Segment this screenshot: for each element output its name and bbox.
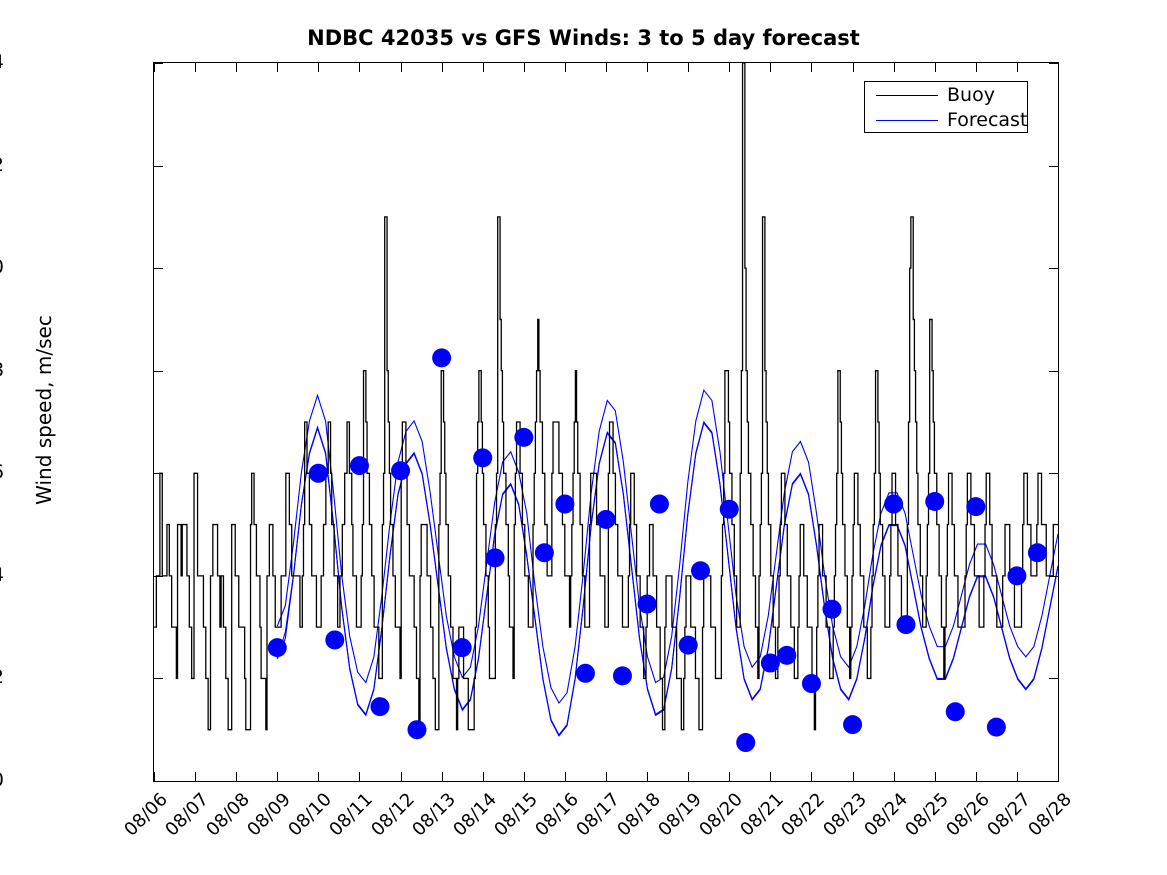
x-tick-mark bbox=[894, 772, 895, 781]
y-axis-label: Wind speed, m/sec bbox=[32, 130, 56, 690]
marker-point bbox=[966, 497, 985, 516]
x-tick-mark bbox=[359, 63, 360, 72]
x-tick-mark bbox=[236, 772, 237, 781]
legend-label-forecast: Forecast bbox=[947, 107, 1027, 133]
x-tick-mark bbox=[647, 772, 648, 781]
marker-point bbox=[691, 561, 710, 580]
y-tick-mark bbox=[154, 576, 163, 577]
y-tick-mark bbox=[154, 268, 163, 269]
x-tick-mark bbox=[1058, 63, 1059, 72]
x-tick-mark bbox=[811, 772, 812, 781]
x-tick-mark bbox=[729, 772, 730, 781]
x-tick-mark bbox=[976, 772, 977, 781]
x-tick-mark bbox=[483, 772, 484, 781]
legend-item-buoy: Buoy bbox=[865, 82, 1029, 108]
x-tick-mark bbox=[195, 63, 196, 72]
y-tick-mark bbox=[154, 781, 163, 782]
marker-point bbox=[650, 495, 669, 514]
x-tick-mark bbox=[1058, 772, 1059, 781]
x-tick-mark bbox=[729, 63, 730, 72]
marker-point bbox=[777, 646, 796, 665]
marker-point bbox=[987, 718, 1006, 737]
marker-point bbox=[350, 456, 369, 475]
marker-point bbox=[309, 464, 328, 483]
x-tick-mark bbox=[524, 63, 525, 72]
marker-point bbox=[823, 600, 842, 619]
x-tick-mark bbox=[853, 772, 854, 781]
x-tick-mark bbox=[565, 772, 566, 781]
marker-point bbox=[720, 500, 739, 519]
marker-point bbox=[597, 510, 616, 529]
x-tick-mark bbox=[401, 772, 402, 781]
y-tick-label: 4 bbox=[0, 564, 4, 586]
y-tick-mark bbox=[154, 473, 163, 474]
y-tick-mark bbox=[154, 371, 163, 372]
y-tick-label: 14 bbox=[0, 51, 4, 73]
y-tick-label: 6 bbox=[0, 461, 4, 483]
y-tick-mark bbox=[154, 166, 163, 167]
y-tick-mark bbox=[1049, 473, 1058, 474]
legend-item-forecast: Forecast bbox=[865, 107, 1029, 133]
y-tick-mark bbox=[1049, 371, 1058, 372]
x-tick-mark bbox=[318, 63, 319, 72]
marker-point bbox=[884, 495, 903, 514]
marker-point bbox=[896, 615, 915, 634]
x-tick-mark bbox=[442, 63, 443, 72]
forecast-series-lines bbox=[277, 390, 1058, 736]
y-tick-mark bbox=[1049, 576, 1058, 577]
x-tick-mark bbox=[770, 772, 771, 781]
marker-point bbox=[679, 636, 698, 655]
marker-point bbox=[736, 733, 755, 752]
marker-point bbox=[638, 595, 657, 614]
x-tick-mark bbox=[770, 63, 771, 72]
marker-point bbox=[432, 348, 451, 367]
marker-point bbox=[473, 448, 492, 467]
x-tick-mark bbox=[606, 772, 607, 781]
x-tick-mark bbox=[483, 63, 484, 72]
chart-figure: NDBC 42035 vs GFS Winds: 3 to 5 day fore… bbox=[0, 0, 1167, 875]
legend-label-buoy: Buoy bbox=[947, 82, 995, 108]
y-tick-mark bbox=[1049, 268, 1058, 269]
x-tick-mark bbox=[401, 63, 402, 72]
forecast-line-5-day bbox=[277, 390, 1058, 703]
x-tick-mark bbox=[442, 772, 443, 781]
y-tick-mark bbox=[154, 63, 163, 64]
y-tick-label: 10 bbox=[0, 256, 4, 278]
x-tick-mark bbox=[853, 63, 854, 72]
y-tick-mark bbox=[1049, 678, 1058, 679]
x-tick-mark bbox=[811, 63, 812, 72]
x-tick-mark bbox=[524, 772, 525, 781]
y-tick-mark bbox=[154, 678, 163, 679]
x-tick-mark bbox=[1017, 63, 1018, 72]
x-tick-mark bbox=[647, 63, 648, 72]
marker-point bbox=[946, 702, 965, 721]
x-tick-mark bbox=[154, 772, 155, 781]
x-tick-mark bbox=[565, 63, 566, 72]
marker-point bbox=[1028, 543, 1047, 562]
marker-point bbox=[371, 697, 390, 716]
marker-point bbox=[1007, 566, 1026, 585]
legend-swatch-buoy bbox=[876, 95, 938, 96]
marker-point bbox=[325, 630, 344, 649]
marker-point bbox=[391, 461, 410, 480]
x-tick-mark bbox=[688, 63, 689, 72]
marker-point bbox=[555, 495, 574, 514]
x-tick-mark bbox=[894, 63, 895, 72]
y-tick-mark bbox=[1049, 781, 1058, 782]
x-tick-mark bbox=[688, 772, 689, 781]
x-tick-mark bbox=[935, 772, 936, 781]
marker-point bbox=[268, 638, 287, 657]
x-tick-mark bbox=[277, 772, 278, 781]
x-tick-mark bbox=[318, 772, 319, 781]
marker-point bbox=[576, 664, 595, 683]
y-tick-label: 12 bbox=[0, 154, 4, 176]
plot-canvas bbox=[154, 63, 1058, 781]
marker-point bbox=[613, 666, 632, 685]
marker-point bbox=[925, 492, 944, 511]
x-tick-mark bbox=[236, 63, 237, 72]
x-tick-mark bbox=[1017, 772, 1018, 781]
marker-point bbox=[407, 720, 426, 739]
x-tick-mark bbox=[154, 63, 155, 72]
x-tick-mark bbox=[277, 63, 278, 72]
marker-point bbox=[514, 428, 533, 447]
marker-point bbox=[486, 548, 505, 567]
x-tick-mark bbox=[935, 63, 936, 72]
x-tick-mark bbox=[195, 772, 196, 781]
x-tick-mark bbox=[359, 772, 360, 781]
marker-point bbox=[802, 674, 821, 693]
legend-swatch-forecast bbox=[876, 120, 938, 121]
y-tick-label: 8 bbox=[0, 359, 4, 381]
y-tick-label: 2 bbox=[0, 666, 4, 688]
chart-legend: Buoy Forecast bbox=[864, 81, 1028, 133]
x-tick-mark bbox=[976, 63, 977, 72]
y-tick-mark bbox=[1049, 166, 1058, 167]
marker-point bbox=[761, 654, 780, 673]
plot-area bbox=[153, 62, 1059, 782]
y-tick-label: 0 bbox=[0, 769, 4, 791]
y-tick-mark bbox=[1049, 63, 1058, 64]
x-tick-mark bbox=[606, 63, 607, 72]
chart-title: NDBC 42035 vs GFS Winds: 3 to 5 day fore… bbox=[0, 26, 1167, 50]
marker-point bbox=[453, 638, 472, 657]
marker-point bbox=[843, 715, 862, 734]
marker-point bbox=[535, 543, 554, 562]
